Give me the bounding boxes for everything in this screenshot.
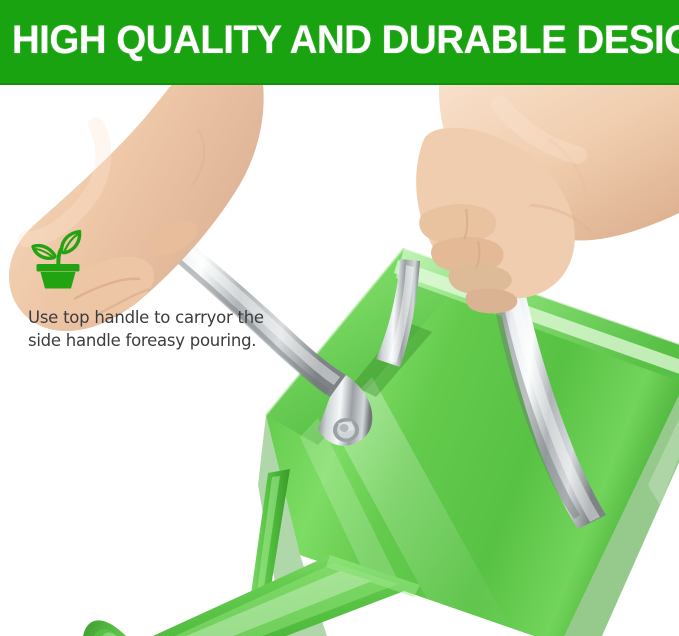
handle-bolt xyxy=(333,418,359,442)
potted-sprout-icon xyxy=(30,228,86,290)
feature-caption: Use top handle to carryor the side handl… xyxy=(28,306,290,352)
product-photo xyxy=(0,85,679,636)
banner-headline: HIGH QUALITY AND DURABLE DESIGN xyxy=(12,16,667,64)
product-feature-image: HIGH QUALITY AND DURABLE DESIGN Use top … xyxy=(0,0,679,636)
header-banner: HIGH QUALITY AND DURABLE DESIGN xyxy=(0,0,679,85)
feature-block: Use top handle to carryor the side handl… xyxy=(28,228,296,352)
